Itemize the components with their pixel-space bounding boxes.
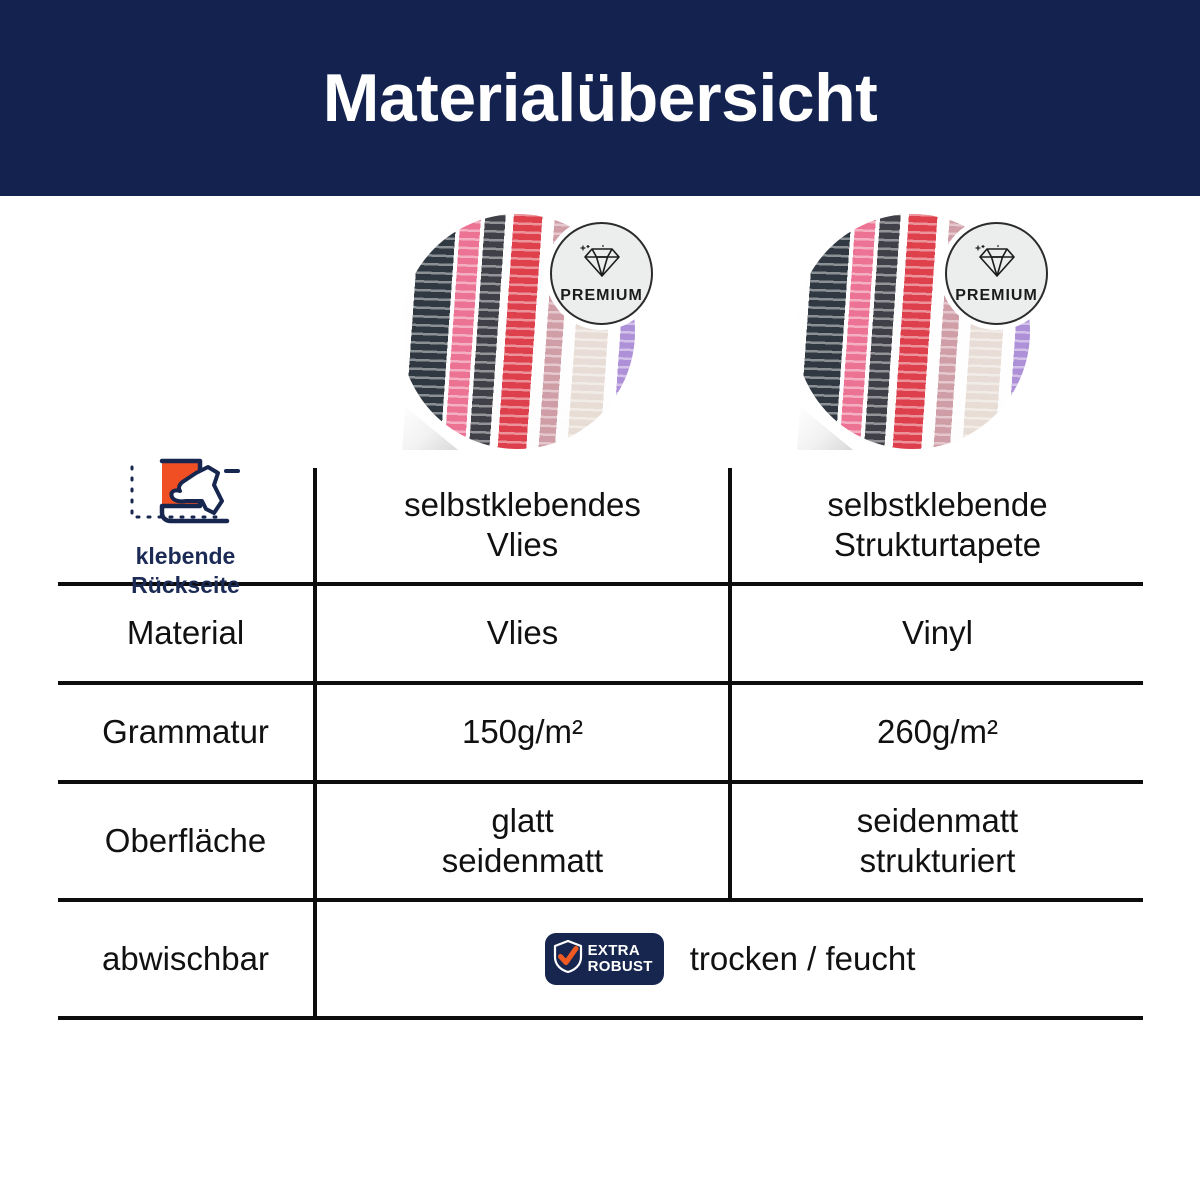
material-comparison-table: klebende Rückseite selbstklebendes Vlies… [58,468,1143,1020]
premium-badge-left: PREMIUM [550,222,653,325]
cell-grammatur-left: 150g/m² [313,685,728,780]
premium-label: PREMIUM [955,287,1038,305]
sticky-back-block: klebende Rückseite [122,451,250,598]
material-overview-page: Materialübersicht [0,0,1200,1200]
premium-badge-right: PREMIUM [945,222,1048,325]
cell-abwischbar-merged: EXTRA ROBUST trocken / feucht [313,902,1143,1016]
premium-label: PREMIUM [560,287,643,305]
row-label-oberflaeche: Oberfläche [58,784,313,898]
peeling-sticker-hand-icon [122,451,250,534]
extra-robust-line1: EXTRA [588,943,653,959]
cell-grammatur-right: 260g/m² [728,685,1143,780]
cell-adhesive-fleece: selbstklebendes Vlies [313,468,728,582]
table-row: Oberfläche glatt seidenmatt seidenmatt s… [58,784,1143,902]
row-label-sticky-back: klebende Rückseite [58,468,313,582]
cell-oberflaeche-left: glatt seidenmatt [313,784,728,898]
cell-wipeable-value: trocken / feucht [690,939,916,979]
shield-check-icon [553,940,583,978]
row-label-material: Material [58,586,313,681]
cell-adhesive-textured: selbstklebende Strukturtapete [728,468,1143,582]
diamond-icon [579,245,625,284]
page-title: Materialübersicht [323,64,878,132]
cell-material-right: Vinyl [728,586,1143,681]
page-header: Materialübersicht [0,0,1200,196]
table-row: Material Vlies Vinyl [58,586,1143,685]
extra-robust-label: EXTRA ROBUST [588,943,653,974]
table-row: Grammatur 150g/m² 260g/m² [58,685,1143,784]
cell-material-left: Vlies [313,586,728,681]
product-swatch-left: PREMIUM [400,214,650,464]
cell-oberflaeche-right: seidenmatt strukturiert [728,784,1143,898]
extra-robust-line2: ROBUST [588,959,653,975]
row-label-grammatur: Grammatur [58,685,313,780]
extra-robust-badge: EXTRA ROBUST [545,933,664,985]
table-row: klebende Rückseite selbstklebendes Vlies… [58,468,1143,586]
table-row: abwischbar EXTRA ROBUST trocken / fe [58,902,1143,1020]
diamond-icon [974,245,1020,284]
product-swatches: PREMIUM [0,206,1200,471]
product-swatch-right: PREMIUM [795,214,1045,464]
row-label-abwischbar: abwischbar [58,902,313,1016]
